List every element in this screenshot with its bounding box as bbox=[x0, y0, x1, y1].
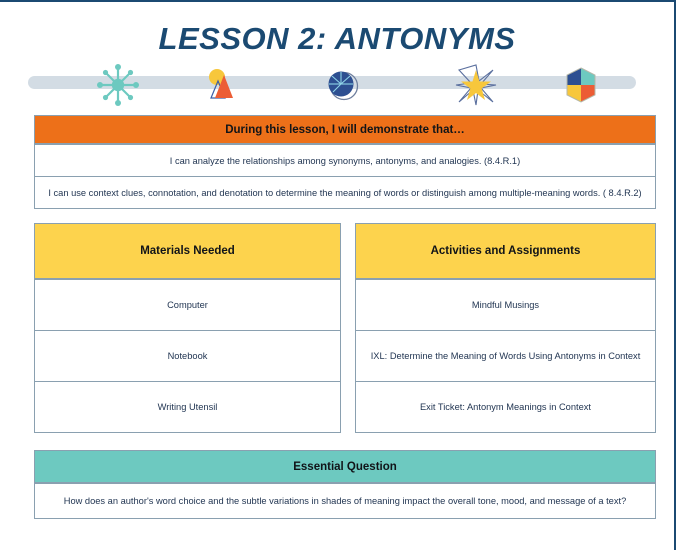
page-title: LESSON 2: ANTONYMS bbox=[6, 4, 668, 56]
activities-header: Activities and Assignments bbox=[355, 223, 656, 279]
mountain-sun-icon bbox=[191, 62, 245, 108]
activities-table: Activities and Assignments Mindful Musin… bbox=[355, 224, 656, 433]
lesson-sheet: LESSON 2: ANTONYMS bbox=[6, 4, 668, 550]
cube-quadrant-icon bbox=[554, 62, 608, 108]
objectives-row: I can use context clues, connotation, an… bbox=[35, 176, 655, 208]
materials-row: Notebook bbox=[35, 330, 340, 381]
globe-compass-icon bbox=[316, 62, 370, 108]
activities-row: Exit Ticket: Antonym Meanings in Context bbox=[356, 381, 655, 432]
materials-row: Computer bbox=[35, 279, 340, 330]
objectives-header: During this lesson, I will demonstrate t… bbox=[34, 115, 656, 144]
molecule-starburst-icon bbox=[91, 62, 145, 108]
activities-row: IXL: Determine the Meaning of Words Usin… bbox=[356, 330, 655, 381]
essential-question-table: Essential Question How does an author's … bbox=[34, 451, 656, 519]
star-sunburst-icon bbox=[449, 62, 503, 108]
objectives-table: During this lesson, I will demonstrate t… bbox=[34, 116, 656, 209]
decorative-icon-bar bbox=[6, 62, 668, 108]
materials-table: Materials Needed Computer Notebook Writi… bbox=[34, 224, 341, 433]
essential-question-row: How does an author's word choice and the… bbox=[35, 483, 655, 518]
lesson-page: LESSON 2: ANTONYMS bbox=[0, 0, 676, 550]
activities-row: Mindful Musings bbox=[356, 279, 655, 330]
materials-row: Writing Utensil bbox=[35, 381, 340, 432]
objectives-row: I can analyze the relationships among sy… bbox=[35, 144, 655, 176]
materials-header: Materials Needed bbox=[34, 223, 341, 279]
essential-question-header: Essential Question bbox=[34, 450, 656, 483]
